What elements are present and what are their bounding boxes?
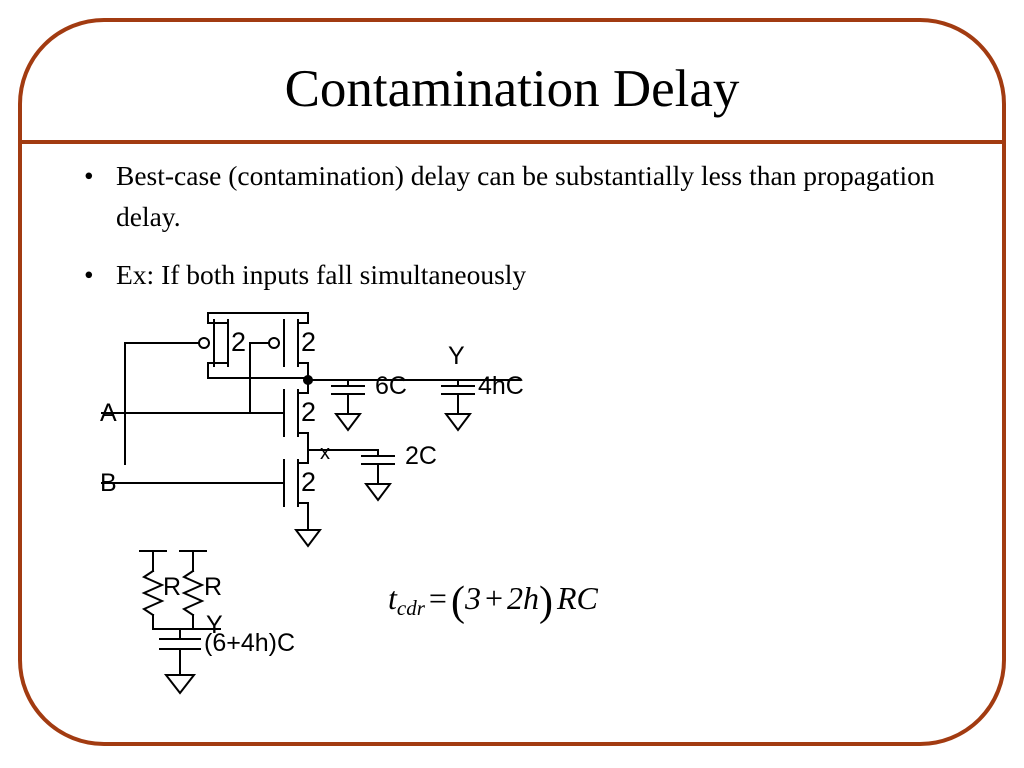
bullet-marker-icon: •: [84, 155, 94, 196]
equation-equals-sign: =: [425, 580, 451, 616]
resistor-1-label: R: [163, 575, 181, 600]
equivalent-rc-svg: [128, 545, 358, 710]
output-label-y: Y: [448, 344, 465, 369]
bullet-list: • Best-case (contamination) delay can be…: [70, 155, 980, 295]
bullet-marker-icon: •: [84, 254, 94, 295]
equation-lhs-var: t: [388, 580, 397, 616]
title-divider-rule: [18, 140, 1006, 144]
list-item: • Ex: If both inputs fall simultaneously: [70, 254, 980, 295]
ground-symbol-cap-4hc: [446, 414, 470, 430]
equation-close-paren: ): [539, 579, 553, 625]
resistor-1-zigzag: [144, 571, 162, 615]
contamination-delay-equation: tcdr=(3+2h)RC: [388, 578, 598, 626]
equivalent-cap-label: (6+4h)C: [204, 631, 295, 656]
resistor-2-zigzag: [184, 571, 202, 615]
pmos-b-inversion-bubble: [269, 338, 279, 348]
ground-symbol-cap-2c: [366, 484, 390, 500]
equation-open-paren: (: [451, 579, 465, 625]
bullet-text: Best-case (contamination) delay can be s…: [116, 160, 935, 232]
equation-term-2-variable: h: [523, 580, 539, 616]
cmos-nand-circuit-diagram: A B Y x 2 2 2 2 6C 4hC 2C: [90, 298, 590, 548]
pmos-b-size-label: 2: [301, 329, 316, 356]
equation-plus-sign: +: [481, 580, 507, 616]
equation-lhs-subscript: cdr: [397, 596, 425, 620]
equivalent-rc-circuit-diagram: R R Y (6+4h)C: [128, 545, 358, 710]
ground-symbol-equivalent: [166, 675, 194, 693]
pmos-a-inversion-bubble: [199, 338, 209, 348]
bullet-text: Ex: If both inputs fall simultaneously: [116, 259, 526, 290]
nmos-b-size-label: 2: [301, 469, 316, 496]
list-item: • Best-case (contamination) delay can be…: [70, 155, 980, 237]
slide-root: Contamination Delay • Best-case (contami…: [0, 0, 1024, 768]
ground-symbol-cap-6c: [336, 414, 360, 430]
resistor-2-label: R: [204, 575, 222, 600]
nmos-a-size-label: 2: [301, 399, 316, 426]
input-label-a: A: [100, 401, 117, 426]
title-band: Contamination Delay: [22, 22, 1002, 140]
equation-term-2-coefficient: 2: [507, 580, 523, 616]
equation-term-1: 3: [465, 580, 481, 616]
node-label-x: x: [320, 441, 330, 466]
cap-label-6c: 6C: [375, 374, 407, 399]
input-label-b: B: [100, 471, 117, 496]
equation-rhs-rc: RC: [553, 580, 598, 616]
cap-label-2c: 2C: [405, 444, 437, 469]
cap-label-4hc: 4hC: [478, 374, 524, 399]
cmos-circuit-svg: [90, 298, 590, 548]
pmos-a-size-label: 2: [231, 329, 246, 356]
page-title: Contamination Delay: [22, 60, 1002, 118]
ground-symbol-nmos-stack: [296, 530, 320, 546]
